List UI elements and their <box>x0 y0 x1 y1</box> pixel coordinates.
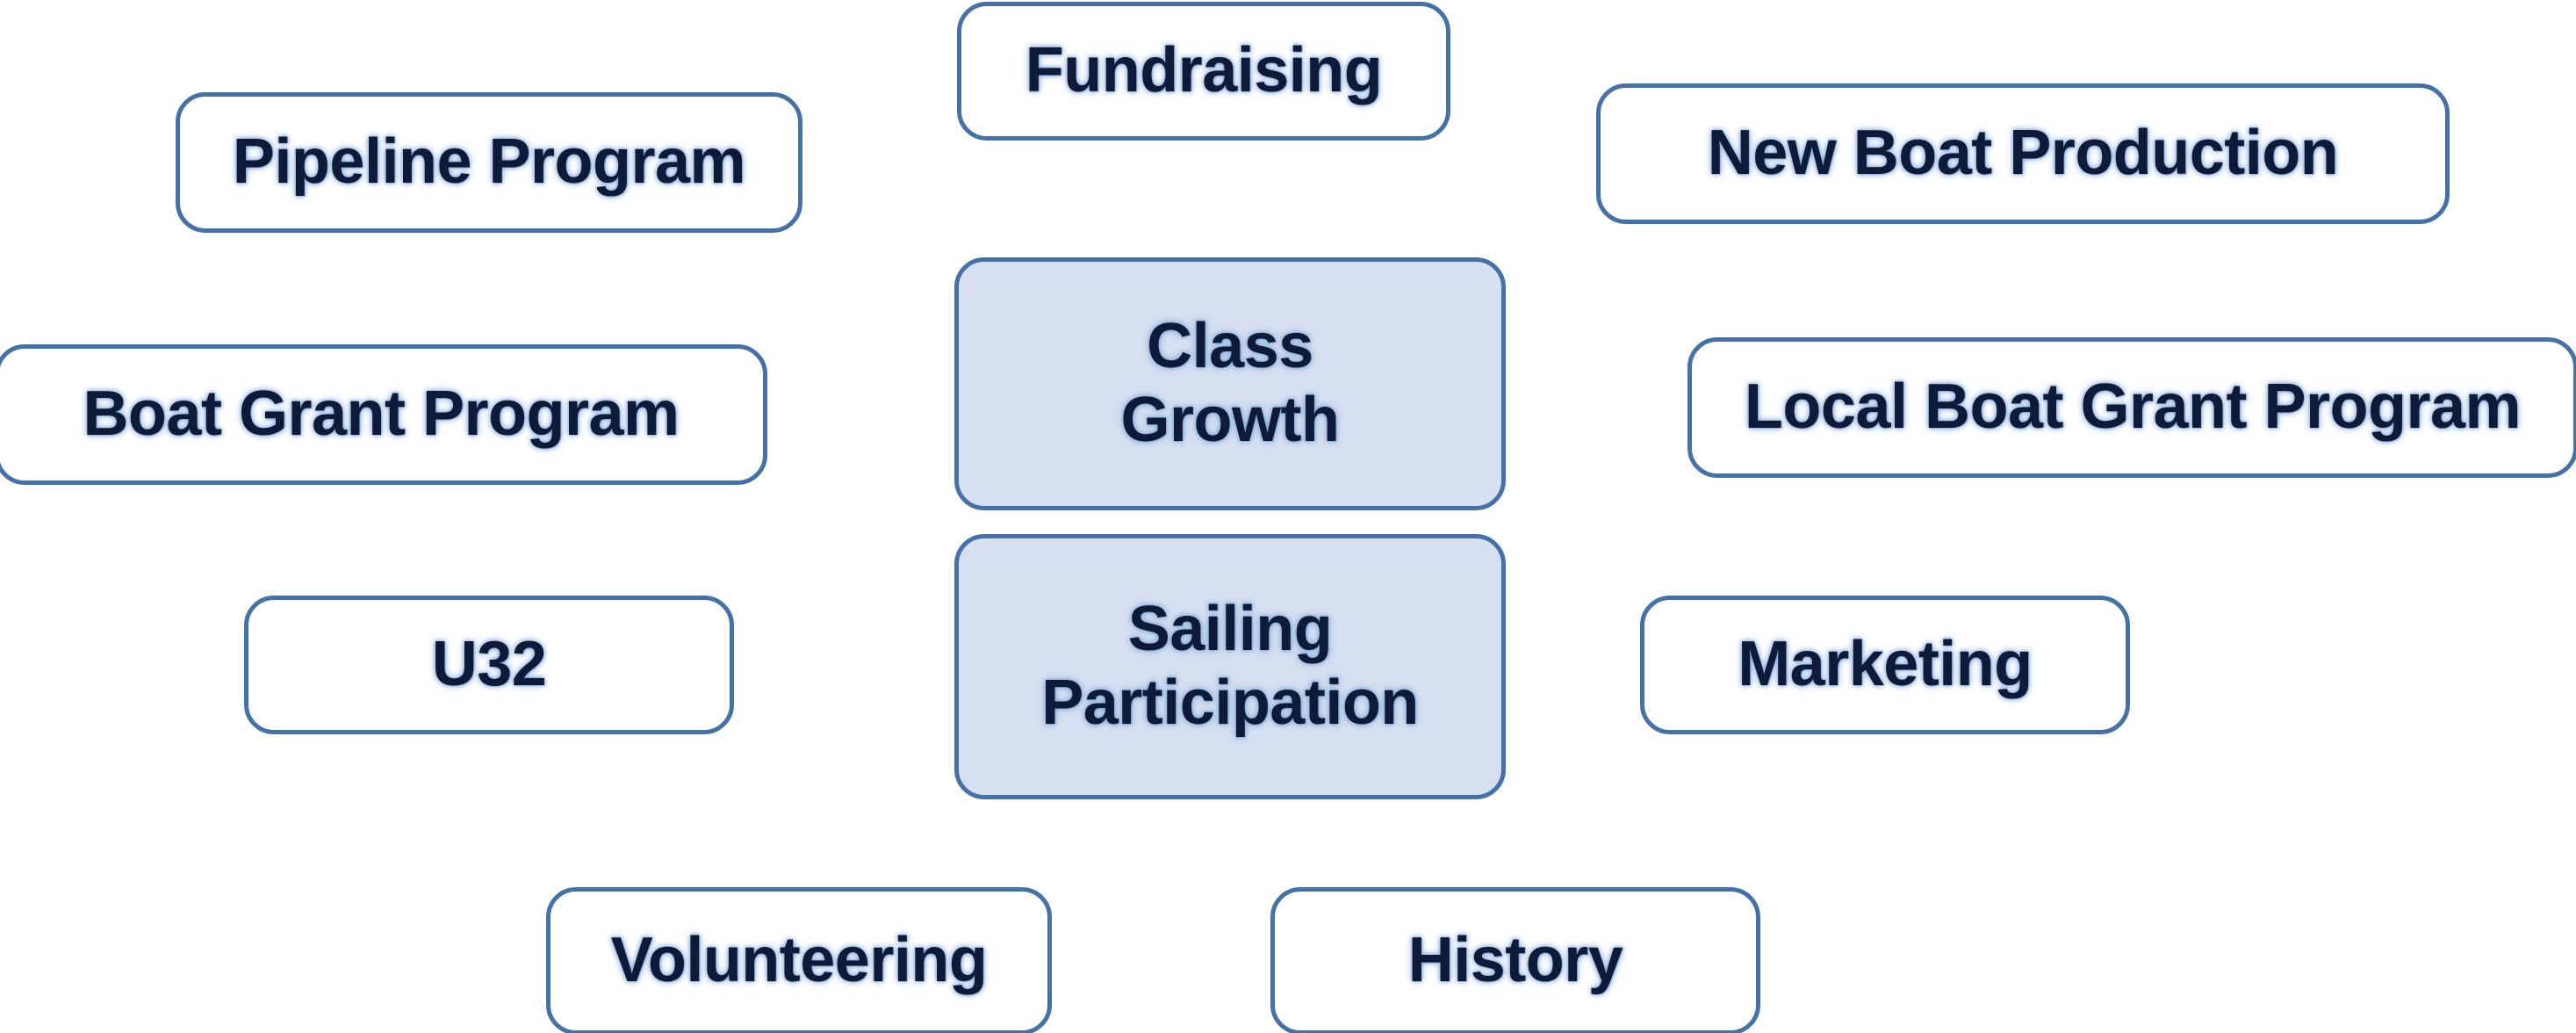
node-new-boat-production[interactable]: New Boat Production <box>1596 83 2450 224</box>
node-u32[interactable]: U32 <box>244 596 734 734</box>
node-history[interactable]: History <box>1270 887 1760 1033</box>
node-pipeline-program[interactable]: Pipeline Program <box>176 92 802 233</box>
node-local-boat-grant-program[interactable]: Local Boat Grant Program <box>1687 337 2576 478</box>
node-class-growth[interactable]: Class Growth <box>954 257 1506 510</box>
diagram-canvas: FundraisingPipeline ProgramNew Boat Prod… <box>0 0 2576 1033</box>
node-volunteering[interactable]: Volunteering <box>546 887 1052 1033</box>
node-sailing-participation[interactable]: Sailing Participation <box>954 534 1506 799</box>
node-marketing[interactable]: Marketing <box>1640 596 2130 734</box>
node-boat-grant-program[interactable]: Boat Grant Program <box>0 344 767 485</box>
node-fundraising[interactable]: Fundraising <box>957 2 1450 141</box>
